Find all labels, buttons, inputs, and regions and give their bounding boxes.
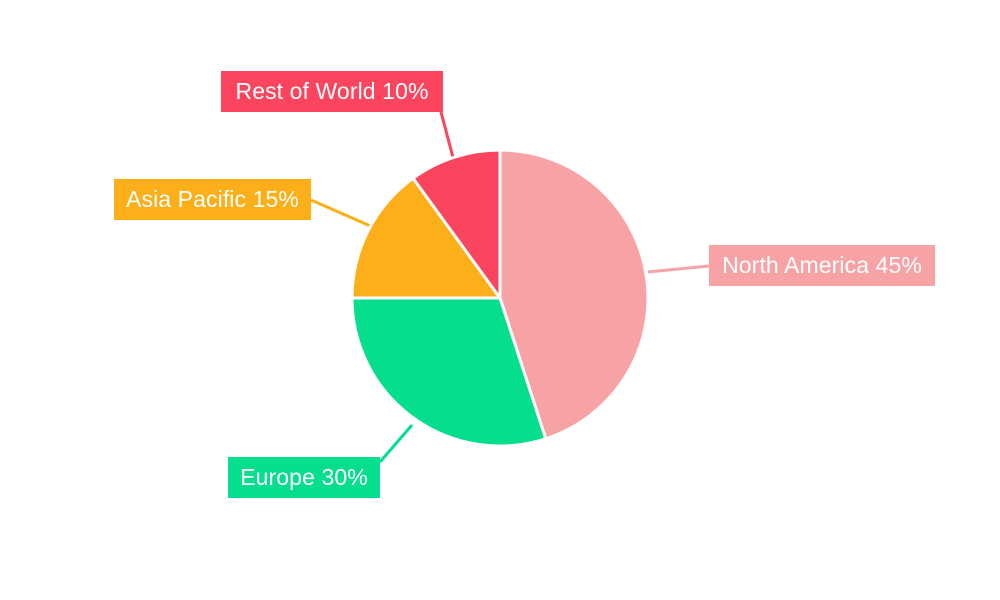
slice-label-north-america-text: North America 45% — [722, 254, 922, 277]
pie-chart-svg — [0, 0, 1000, 600]
slice-label-rest-of-world: Rest of World 10% — [221, 71, 443, 112]
slice-label-asia-pacific-text: Asia Pacific 15% — [126, 188, 299, 211]
pie-slices-group — [352, 150, 648, 446]
slice-label-rest-of-world-text: Rest of World 10% — [235, 80, 428, 103]
leader-line-north-america — [648, 266, 709, 272]
leader-line-europe — [380, 425, 412, 462]
slice-label-europe-text: Europe 30% — [240, 466, 368, 489]
slice-label-north-america: North America 45% — [709, 245, 935, 286]
slice-label-europe: Europe 30% — [228, 457, 380, 498]
slice-label-asia-pacific: Asia Pacific 15% — [114, 179, 311, 220]
leader-line-asia-pacific — [311, 200, 375, 228]
pie-chart-figure: North America 45% Europe 30% Asia Pacifi… — [0, 0, 1000, 600]
